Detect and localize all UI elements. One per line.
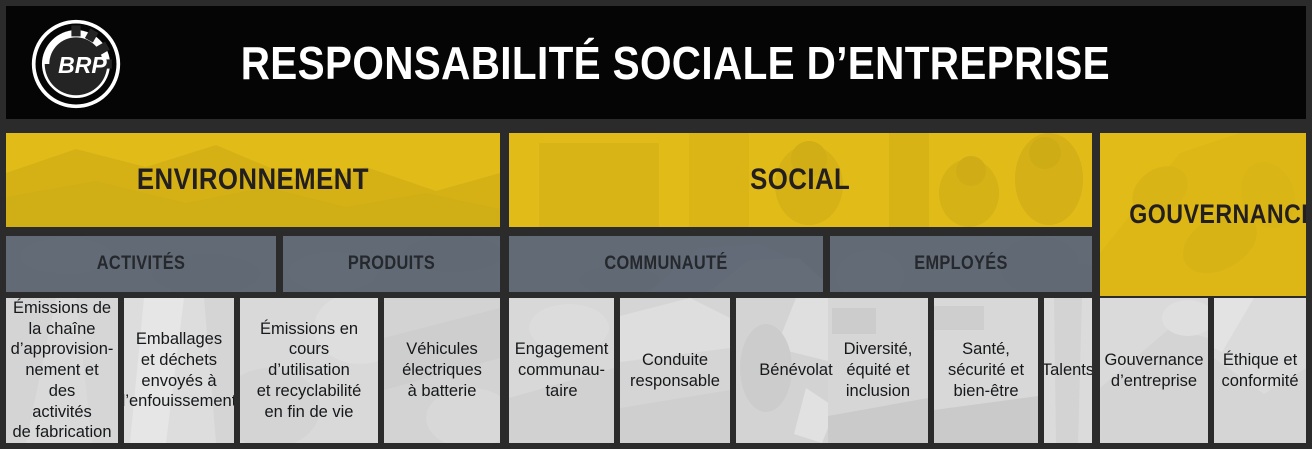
subtheme-communaute[interactable]: COMMUNAUTÉ [509,236,823,292]
topic-card[interactable]: Éthique et conformité [1214,298,1306,443]
topic-card[interactable]: Émissions de la chaîne d’approvision- ne… [6,298,118,443]
topic-card-label: Gouvernance d’entreprise [1100,298,1208,443]
pillar-environnement[interactable]: ENVIRONNEMENT [6,133,500,227]
pillar-social[interactable]: SOCIAL [509,133,1092,227]
pillar-environnement-label: ENVIRONNEMENT [137,163,369,197]
pillar-social-inner: SOCIAL [509,133,1092,227]
subtheme-employes-label: EMPLOYÉS [848,236,1073,292]
pillar-gouvernance-inner: GOUVERNANCE [1100,133,1306,296]
topic-card-label: Emballages et déchets envoyés à l’enfoui… [124,298,234,443]
subtheme-activites[interactable]: ACTIVITÉS [6,236,276,292]
pillar-gouvernance[interactable]: GOUVERNANCE [1100,133,1306,296]
subtheme-produits-label: PRODUITS [298,236,485,292]
topic-card[interactable]: Conduite responsable [620,298,730,443]
topic-card-label: Éthique et conformité [1214,298,1306,443]
topic-card[interactable]: Gouvernance d’entreprise [1100,298,1208,443]
topic-card-label: Conduite responsable [620,298,730,443]
topic-card-label: Émissions en cours d’utilisation et recy… [240,298,378,443]
topic-card-label: Diversité, équité et inclusion [828,298,928,443]
pillar-social-label: SOCIAL [750,163,850,197]
topic-card[interactable]: Diversité, équité et inclusion [828,298,928,443]
pillar-environnement-inner: ENVIRONNEMENT [6,133,500,227]
topic-card-label: Engagement communau- taire [509,298,614,443]
subtheme-produits[interactable]: PRODUITS [283,236,500,292]
topic-card-label: Émissions de la chaîne d’approvision- ne… [6,298,118,443]
topic-card-label: Véhicules électriques à batterie [384,298,500,443]
topic-card[interactable]: Engagement communau- taire [509,298,614,443]
topic-card[interactable]: Emballages et déchets envoyés à l’enfoui… [124,298,234,443]
topic-card[interactable]: Talents [1044,298,1092,443]
subtheme-activites-label: ACTIVITÉS [25,236,257,292]
topic-card[interactable]: Santé, sécurité et bien-être [934,298,1038,443]
topic-card-label: Santé, sécurité et bien-être [934,298,1038,443]
topic-card-label: Talents [1044,298,1092,443]
pillar-gouvernance-label: GOUVERNANCE [1129,199,1306,230]
page-header: BRP RESPONSABILITÉ SOCIALE D’ENTREPRISE [6,6,1306,119]
subtheme-communaute-label: COMMUNAUTÉ [531,236,801,292]
topic-card[interactable]: Véhicules électriques à batterie [384,298,500,443]
page-title: RESPONSABILITÉ SOCIALE D’ENTREPRISE [84,36,1228,90]
topic-card[interactable]: Émissions en cours d’utilisation et recy… [240,298,378,443]
csr-infographic: BRP RESPONSABILITÉ SOCIALE D’ENTREPRISE … [0,0,1312,449]
pillars-grid: ENVIRONNEMENT SOCIAL [0,119,1312,449]
subtheme-employes[interactable]: EMPLOYÉS [830,236,1092,292]
